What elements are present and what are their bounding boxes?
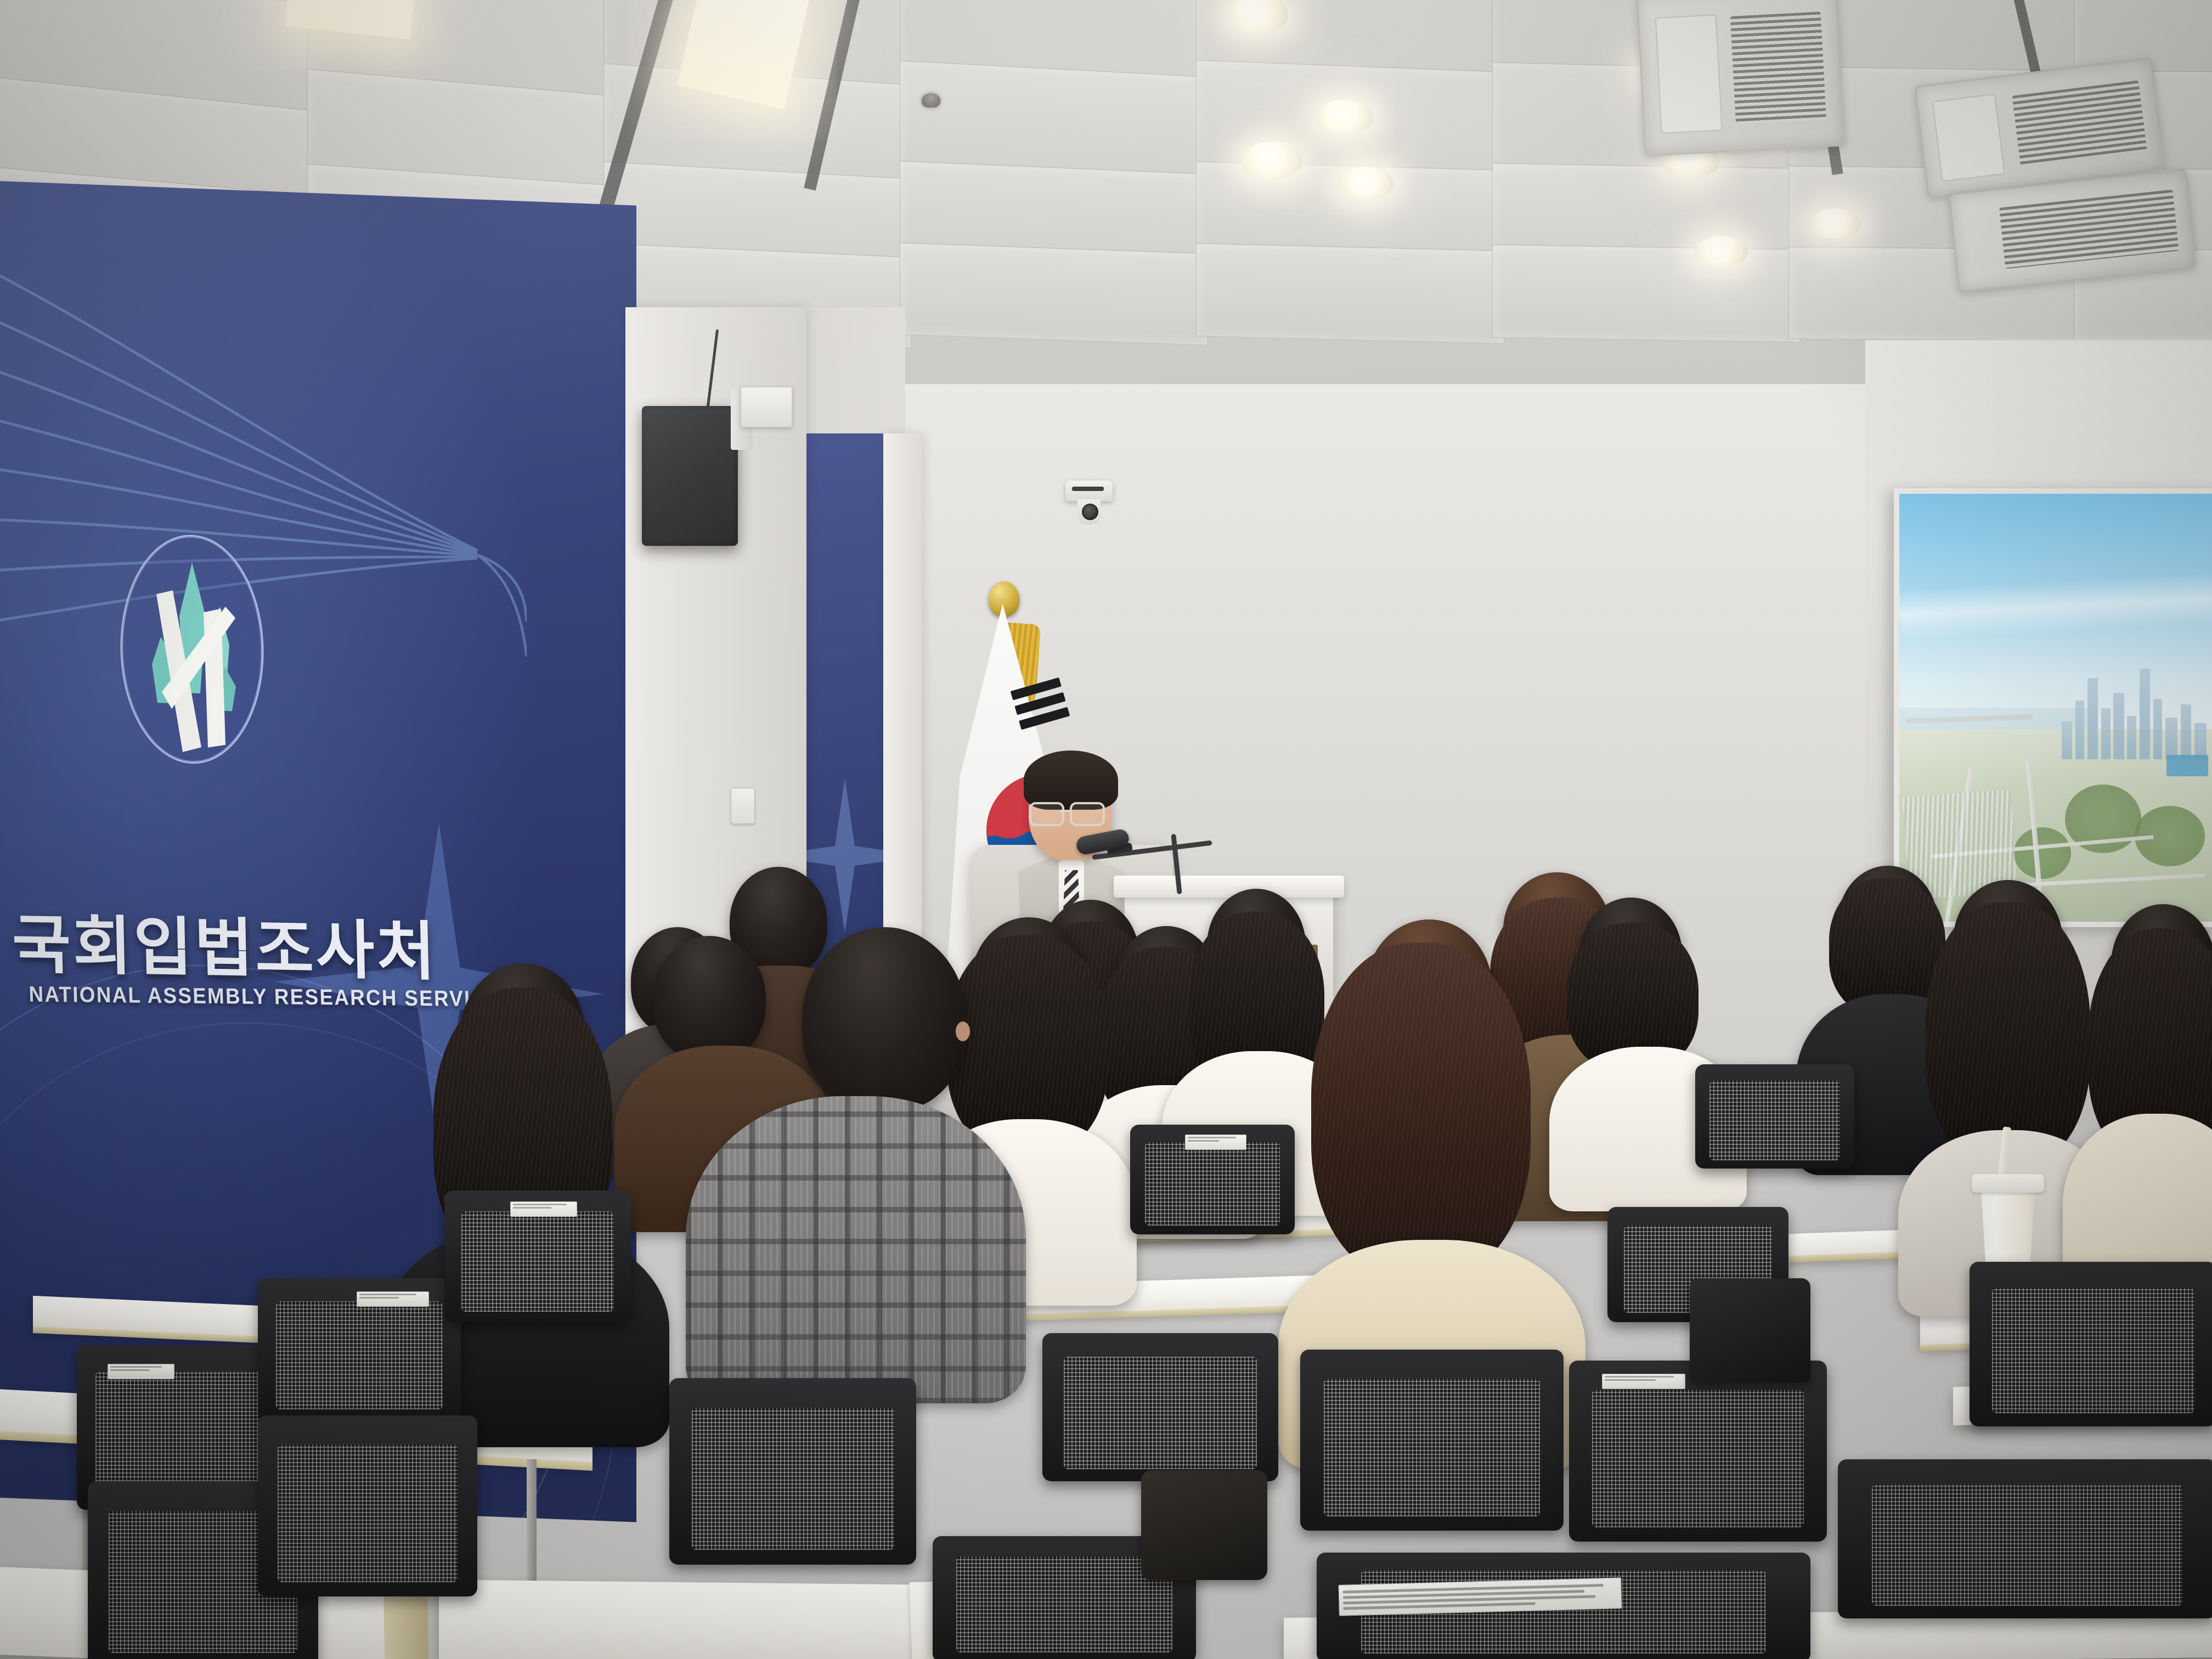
light-switch[interactable]: [731, 788, 755, 824]
security-camera-slot: [1072, 487, 1104, 491]
chair-asset-label: [1602, 1374, 1685, 1389]
ceiling-downlight: [1695, 236, 1748, 268]
chair-asset-label: [357, 1291, 429, 1307]
mesh-back-office-chair[interactable]: [1042, 1333, 1278, 1481]
mesh-back-office-chair[interactable]: [1317, 1553, 1810, 1659]
chair-asset-label: [108, 1364, 174, 1379]
seminar-room-photo: 국회입법조사처 NATIONAL ASSEMBLY RESEARCH SERVI…: [0, 0, 2212, 1659]
mesh-back-office-chair[interactable]: [444, 1190, 631, 1322]
security-camera: [1065, 481, 1113, 501]
mesh-back-office-chair[interactable]: [1569, 1361, 1827, 1542]
backdrop-title-korean: 국회입법조사처: [11, 893, 364, 991]
chair-asset-label: [510, 1201, 577, 1217]
backdrop-subtitle-english: NATIONAL ASSEMBLY RESEARCH SERVICE: [29, 982, 362, 1010]
mesh-back-office-chair[interactable]: [258, 1415, 477, 1596]
mesh-back-office-chair[interactable]: [1130, 1125, 1295, 1234]
bag: [1690, 1278, 1810, 1383]
mesh-back-office-chair[interactable]: [1838, 1459, 2212, 1618]
eyeglasses-icon: [1029, 802, 1064, 826]
ceiling-downlight: [1339, 167, 1393, 201]
fire-sprinkler-icon: [922, 93, 940, 108]
mesh-back-office-chair[interactable]: [669, 1378, 916, 1565]
projected-skyline: [2058, 665, 2211, 759]
chair-asset-label: [1185, 1135, 1246, 1150]
bag: [1141, 1470, 1267, 1580]
eyeglasses-bridge: [1060, 810, 1071, 812]
ceiling-downlight: [1316, 100, 1373, 136]
mesh-back-office-chair[interactable]: [1300, 1350, 1564, 1531]
ceiling-air-conditioner: [1637, 0, 1846, 156]
gray-plaid-shirt: [686, 1096, 1026, 1403]
iced-drink-cup: [1977, 1185, 2039, 1267]
ceiling-downlight: [1241, 142, 1302, 180]
wall-mounted-box: [741, 387, 792, 427]
camera-lens-icon: [1082, 504, 1098, 520]
mesh-back-office-chair[interactable]: [1695, 1064, 1854, 1169]
mesh-back-office-chair[interactable]: [1970, 1262, 2212, 1426]
ceiling-downlight: [1809, 208, 1861, 239]
lectern-top: [1114, 876, 1344, 898]
projection-screen: [1894, 488, 2212, 927]
mesh-back-office-chair[interactable]: [258, 1278, 461, 1421]
presenter-hair: [1024, 751, 1118, 810]
eyeglasses-icon: [1070, 802, 1105, 826]
pa-speaker: [642, 406, 738, 546]
cup-lid: [1972, 1174, 2044, 1193]
national-assembly-research-service-emblem-icon: [96, 525, 288, 774]
projected-waterfront: [2166, 755, 2208, 776]
